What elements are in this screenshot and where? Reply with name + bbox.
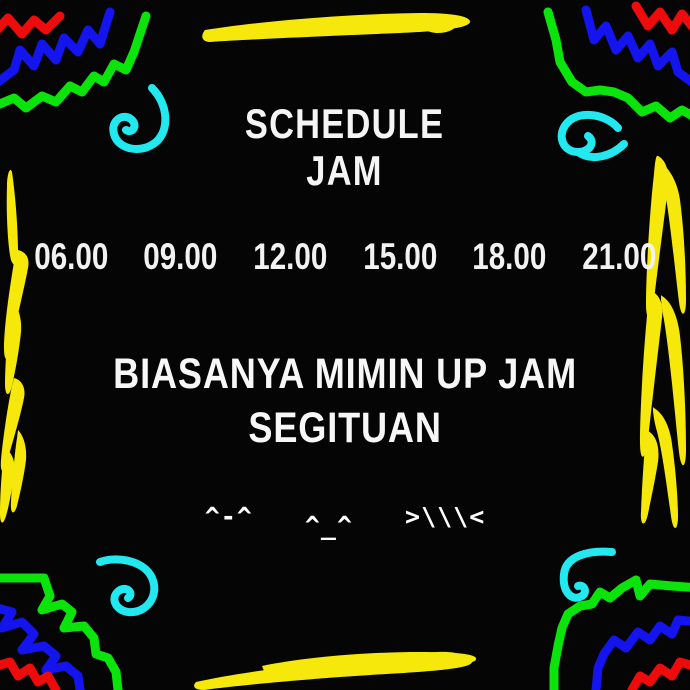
- headline-block: SCHEDULE JAM: [223, 100, 466, 194]
- headline-line-jam: JAM: [245, 147, 444, 194]
- kaomoji-happy-face-icon: ^-^: [205, 502, 253, 531]
- message-line-1: BIASANYA MIMIN UP JAM: [113, 348, 577, 402]
- kaomoji-smile-face-icon: ^_^: [305, 511, 353, 540]
- kaomoji-row: ^-^ ^_^ >\\\<: [205, 502, 486, 531]
- time-slot-3: 12.00: [253, 236, 327, 278]
- message-block: BIASANYA MIMIN UP JAM SEGITUAN: [69, 348, 621, 456]
- message-line-2: SEGITUAN: [113, 402, 577, 456]
- time-slot-5: 18.00: [472, 236, 546, 278]
- schedule-times-row: 06.00 09.00 12.00 15.00 18.00 21.00: [25, 236, 666, 278]
- kaomoji-shy-face-icon: >\\\<: [405, 502, 485, 531]
- time-slot-4: 15.00: [363, 236, 437, 278]
- time-slot-6: 21.00: [582, 236, 656, 278]
- time-slot-1: 06.00: [34, 236, 108, 278]
- time-slot-2: 09.00: [144, 236, 218, 278]
- schedule-poster: SCHEDULE JAM 06.00 09.00 12.00 15.00 18.…: [0, 0, 690, 690]
- headline-line-schedule: SCHEDULE: [245, 100, 444, 147]
- poster-content: SCHEDULE JAM 06.00 09.00 12.00 15.00 18.…: [0, 0, 690, 690]
